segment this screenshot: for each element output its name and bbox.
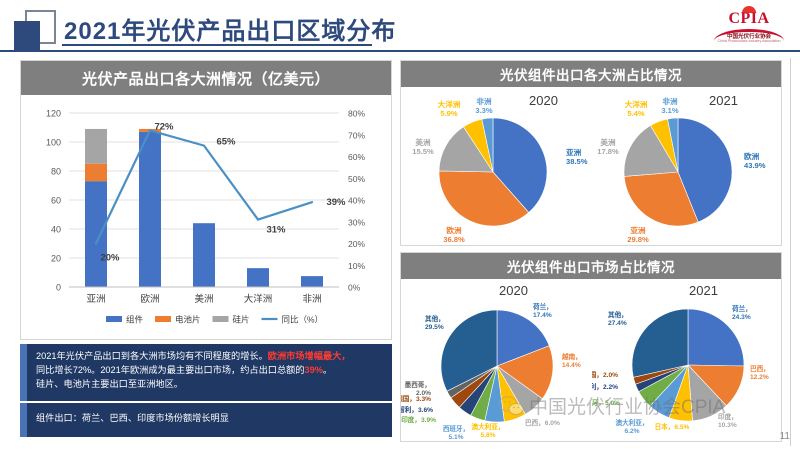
svg-text:5.9%: 5.9% <box>440 109 458 118</box>
pie-chart-market-2020: 荷兰，17.4%越南，14.4%巴西，6.0%澳大利亚，5.8%西班牙，5.1%… <box>401 279 592 443</box>
export-by-continent-bar-chart: 0204060801001200%10%20%30%40%50%60%70%80… <box>21 95 393 341</box>
svg-text:39%: 39% <box>326 197 346 208</box>
svg-text:非洲: 非洲 <box>662 96 678 106</box>
svg-text:电池片: 电池片 <box>175 315 201 325</box>
pie-chart-continent-2021: 欧洲43.9%亚洲29.8%美洲17.8%大洋洲5.4%非洲3.1% <box>592 87 783 247</box>
svg-text:12.2%: 12.2% <box>750 374 769 381</box>
cpia-logo: CPIA 中国光伏行业协会 China Photovoltaic Industr… <box>710 4 788 46</box>
note-highlight-europe: 欧洲市场增幅最大， <box>268 351 351 361</box>
svg-text:美洲: 美洲 <box>194 293 213 305</box>
svg-text:印度，3.9%: 印度，3.9% <box>401 415 436 424</box>
module-export-market-panel: 光伏组件出口市场占比情况 2020 2021 荷兰，17.4%越南，14.4%巴… <box>400 252 782 442</box>
svg-text:巴西，: 巴西， <box>750 365 770 373</box>
svg-text:越南，: 越南， <box>561 352 582 361</box>
header-divider <box>0 50 800 52</box>
svg-text:0%: 0% <box>348 283 361 293</box>
pie-chart-continent-2020: 亚洲38.5%欧洲36.8%美洲15.5%大洋洲5.9%非洲3.3% <box>401 87 592 247</box>
svg-text:欧洲: 欧洲 <box>446 225 462 235</box>
svg-text:24.3%: 24.3% <box>732 314 751 321</box>
note-line-3: 硅片、电池片主要出口至亚洲地区。 <box>36 378 384 392</box>
svg-text:亚洲: 亚洲 <box>86 294 105 305</box>
svg-text:美洲: 美洲 <box>415 137 431 147</box>
svg-text:大洋洲: 大洋洲 <box>625 99 648 109</box>
note-highlight-39: 39% <box>305 365 323 375</box>
svg-text:其他，: 其他， <box>608 310 628 319</box>
title-underline <box>62 44 372 46</box>
svg-text:德国，2.0%: 德国，2.0% <box>592 370 618 379</box>
svg-text:27.4%: 27.4% <box>608 320 627 327</box>
svg-text:40: 40 <box>51 225 61 235</box>
svg-text:40%: 40% <box>348 196 365 206</box>
note-line-4: 组件出口：荷兰、巴西、印度市场份额增长明显 <box>36 412 384 425</box>
svg-text:印度，: 印度， <box>718 412 738 421</box>
svg-text:31%: 31% <box>266 225 286 236</box>
svg-text:70%: 70% <box>348 130 365 140</box>
svg-text:17.4%: 17.4% <box>533 312 552 319</box>
svg-text:非洲: 非洲 <box>302 293 321 305</box>
svg-text:巴西，6.0%: 巴西，6.0% <box>525 419 560 427</box>
svg-text:29.8%: 29.8% <box>627 235 649 244</box>
svg-text:80%: 80% <box>348 109 365 119</box>
page-number: 11 <box>780 431 790 442</box>
left-chart-title: 光伏产品出口各大洲情况（亿美元） <box>21 61 391 95</box>
svg-text:西班牙，5.0%: 西班牙，5.0% <box>592 398 620 407</box>
page-title: 2021年光伏产品出口区域分布 <box>64 11 396 46</box>
note-line-1: 2021年光伏产品出口到各大洲市场均有不同程度的增长。欧洲市场增幅最大， <box>36 350 384 364</box>
svg-text:3.3%: 3.3% <box>475 106 493 115</box>
svg-text:72%: 72% <box>154 121 174 132</box>
svg-text:20%: 20% <box>348 239 365 249</box>
slide-right-rail <box>790 58 791 446</box>
note-text-b: 同比增长72%。2021年欧洲成为最主要出口市场，约占出口总额的 <box>36 365 305 375</box>
svg-text:大洋洲: 大洋洲 <box>438 99 461 109</box>
svg-text:20%: 20% <box>100 253 120 264</box>
pie-chart-market-2021: 荷兰，24.3%巴西，12.2%印度，10.3%日本，6.5%澳大利亚，6.2%… <box>592 279 783 443</box>
svg-text:2.0%: 2.0% <box>416 390 431 397</box>
svg-text:硅片: 硅片 <box>233 315 250 325</box>
svg-text:43.9%: 43.9% <box>744 161 766 170</box>
svg-text:100: 100 <box>46 138 61 148</box>
svg-text:5.1%: 5.1% <box>448 434 463 441</box>
svg-text:20: 20 <box>51 254 61 264</box>
svg-text:其他，: 其他， <box>425 314 445 323</box>
svg-text:10.3%: 10.3% <box>718 422 737 429</box>
slide-logo-mark <box>14 8 56 48</box>
svg-text:大洋洲: 大洋洲 <box>244 293 273 305</box>
svg-text:荷兰，: 荷兰， <box>731 304 752 313</box>
svg-text:亚洲: 亚洲 <box>566 148 582 157</box>
cpia-wordmark: CPIA <box>710 10 788 28</box>
svg-text:5.4%: 5.4% <box>627 109 645 118</box>
svg-text:38.5%: 38.5% <box>566 157 588 166</box>
export-by-continent-panel: 光伏产品出口各大洲情况（亿美元） 0204060801001200%10%20%… <box>20 60 392 340</box>
svg-text:非洲: 非洲 <box>476 96 492 106</box>
svg-text:30%: 30% <box>348 217 365 227</box>
svg-text:日本，6.5%: 日本，6.5% <box>655 422 690 431</box>
svg-text:29.5%: 29.5% <box>425 324 444 331</box>
svg-text:西班牙，: 西班牙， <box>443 424 469 433</box>
note-text-c: 。 <box>323 365 332 375</box>
svg-text:120: 120 <box>46 109 61 119</box>
svg-text:智利，3.6%: 智利，3.6% <box>401 405 433 414</box>
svg-text:智利，2.2%: 智利，2.2% <box>592 382 618 391</box>
note-line-2: 同比增长72%。2021年欧洲成为最主要出口市场，约占出口总额的39%。 <box>36 364 384 378</box>
svg-text:同比（%）: 同比（%） <box>282 315 324 325</box>
svg-text:65%: 65% <box>216 137 236 148</box>
svg-text:墨西哥，: 墨西哥， <box>405 380 431 389</box>
note-text-a: 2021年光伏产品出口到各大洲市场均有不同程度的增长。 <box>36 351 268 361</box>
note-box-primary: 2021年光伏产品出口到各大洲市场均有不同程度的增长。欧洲市场增幅最大， 同比增… <box>20 344 392 401</box>
svg-text:美洲: 美洲 <box>600 137 616 147</box>
svg-text:80: 80 <box>51 167 61 177</box>
svg-text:60: 60 <box>51 196 61 206</box>
svg-text:澳大利亚，: 澳大利亚， <box>616 418 649 427</box>
right-top-panel-title: 光伏组件出口各大洲占比情况 <box>401 61 781 87</box>
svg-text:欧洲: 欧洲 <box>140 293 159 305</box>
svg-text:0: 0 <box>56 283 61 293</box>
svg-text:50%: 50% <box>348 174 365 184</box>
svg-text:澳大利亚，: 澳大利亚， <box>472 422 505 431</box>
svg-text:3.1%: 3.1% <box>661 106 679 115</box>
svg-text:15.5%: 15.5% <box>412 147 434 156</box>
svg-text:10%: 10% <box>348 261 365 271</box>
svg-text:17.8%: 17.8% <box>597 147 619 156</box>
module-export-continent-panel: 光伏组件出口各大洲占比情况 2020 2021 亚洲38.5%欧洲36.8%美洲… <box>400 60 782 246</box>
cpia-english-name: China Photovoltaic Industry Association <box>710 39 788 43</box>
svg-text:组件: 组件 <box>126 315 144 325</box>
svg-text:60%: 60% <box>348 152 365 162</box>
svg-text:欧洲: 欧洲 <box>744 151 760 161</box>
svg-text:6.2%: 6.2% <box>624 428 639 435</box>
right-bottom-panel-title: 光伏组件出口市场占比情况 <box>401 253 781 279</box>
svg-text:荷兰，: 荷兰， <box>532 302 553 311</box>
note-box-secondary: 组件出口：荷兰、巴西、印度市场份额增长明显 <box>20 403 392 437</box>
svg-text:14.4%: 14.4% <box>562 362 581 369</box>
svg-text:5.8%: 5.8% <box>480 432 495 439</box>
svg-text:亚洲: 亚洲 <box>630 226 646 235</box>
logo-solid-square <box>14 21 40 51</box>
slide-header: 2021年光伏产品出口区域分布 CPIA 中国光伏行业协会 China Phot… <box>0 0 800 52</box>
svg-text:36.8%: 36.8% <box>443 235 465 244</box>
